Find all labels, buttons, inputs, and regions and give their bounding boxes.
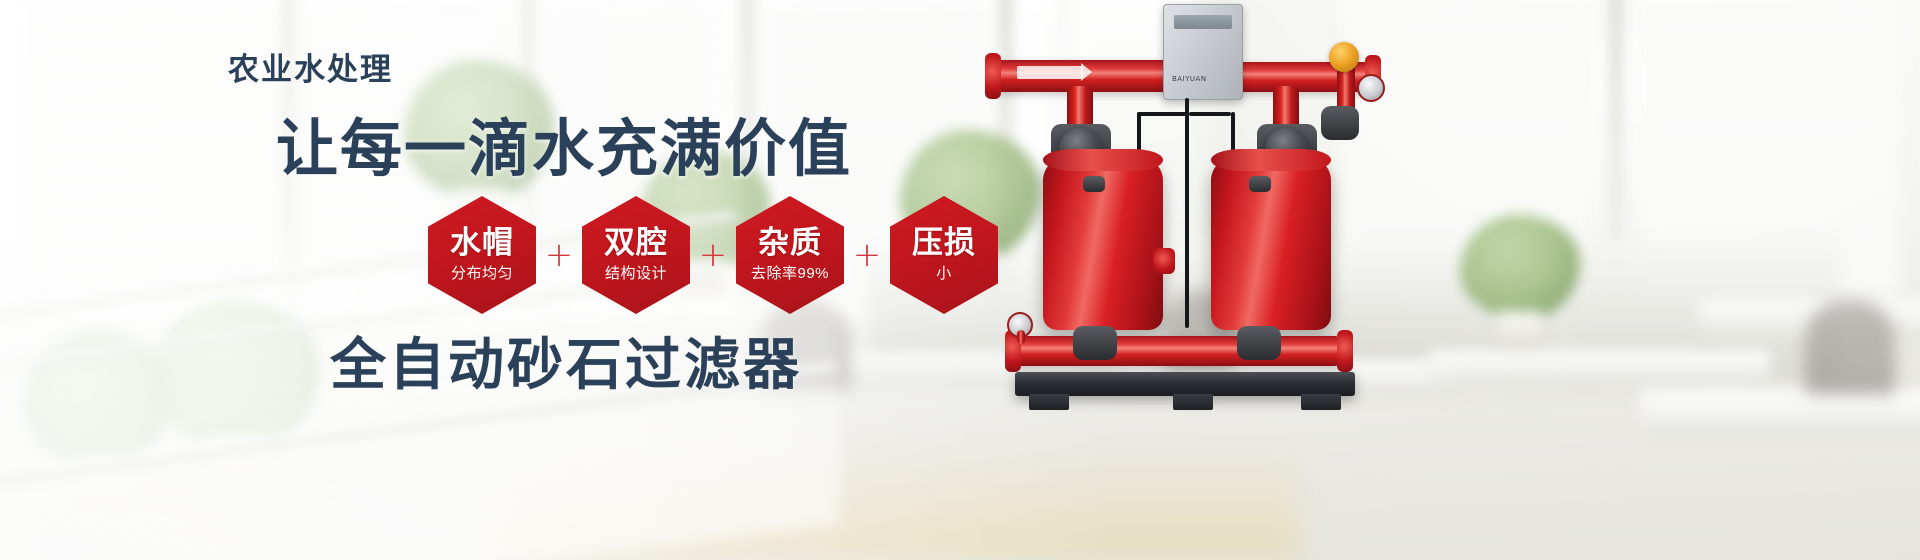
banner-eyebrow: 农业水处理 — [228, 44, 393, 89]
product-hero-banner: BAIYUAN — [0, 0, 1920, 560]
feature-badge-subtitle: 分布均匀 — [451, 265, 513, 283]
feature-plus-separator: + — [690, 238, 736, 272]
feature-plus-separator: + — [536, 238, 582, 272]
feature-badge[interactable]: 双腔结构设计 — [582, 196, 690, 314]
feature-badge-row: 水帽分布均匀+双腔结构设计+杂质去除率99%+压损小 — [428, 196, 998, 314]
feature-badge-title: 压损 — [912, 227, 976, 260]
feature-badge[interactable]: 水帽分布均匀 — [428, 196, 536, 314]
feature-badge-title: 双腔 — [604, 227, 668, 260]
banner-headline: 让每一滴水充满价值 — [276, 98, 852, 188]
banner-content: 农业水处理 让每一滴水充满价值 水帽分布均匀+双腔结构设计+杂质去除率99%+压… — [0, 0, 1920, 560]
banner-product-title: 全自动砂石过滤器 — [330, 320, 802, 401]
feature-badge[interactable]: 压损小 — [890, 196, 998, 314]
feature-plus-separator: + — [844, 238, 890, 272]
feature-badge-subtitle: 结构设计 — [605, 265, 667, 283]
feature-badge-title: 杂质 — [758, 227, 822, 260]
feature-badge-subtitle: 小 — [936, 265, 952, 283]
feature-badge-subtitle: 去除率99% — [751, 265, 829, 283]
feature-badge-title: 水帽 — [450, 227, 514, 260]
feature-badge[interactable]: 杂质去除率99% — [736, 196, 844, 314]
